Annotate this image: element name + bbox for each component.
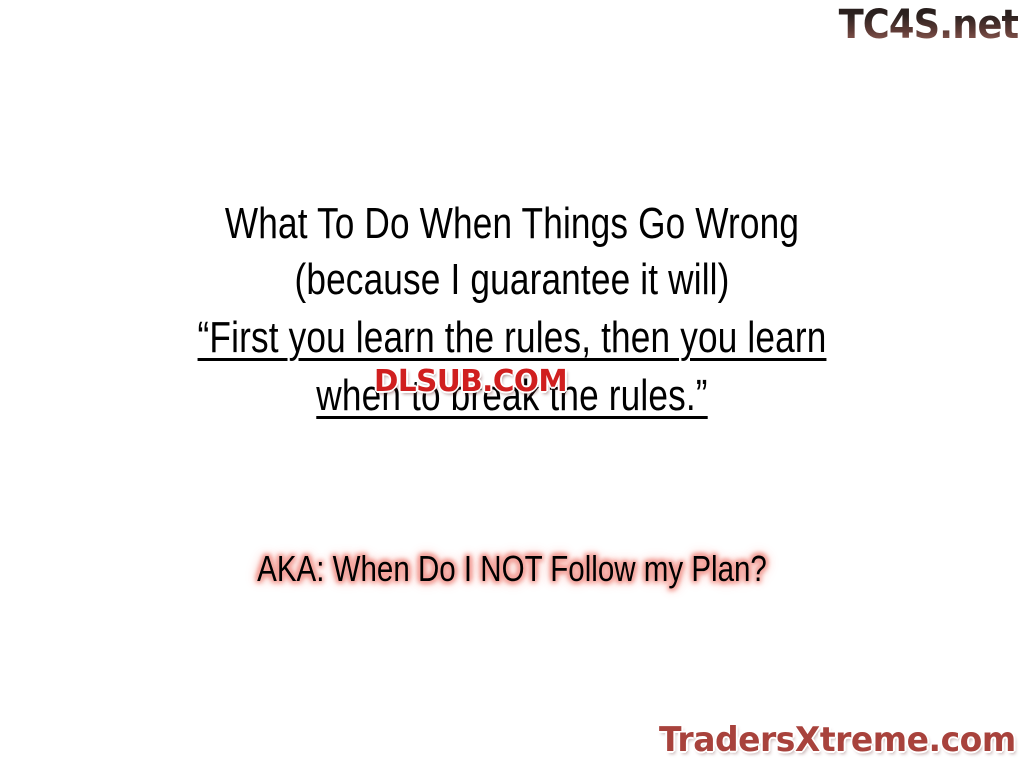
slide-title-line: What To Do When Things Go Wrong xyxy=(102,196,921,252)
dlsub-com-watermark: DLSUB.COM xyxy=(374,366,567,398)
slide-subtitle-line: (because I guarantee it will) xyxy=(102,252,921,308)
tc4s-net-logo: TC4S.net xyxy=(838,2,1018,48)
quote-line-1: “First you learn the rules, then you lea… xyxy=(102,310,921,366)
slide-canvas: TC4S.net What To Do When Things Go Wrong… xyxy=(0,0,1024,768)
tradersxtreme-com-logo: TradersXtreme.com xyxy=(659,720,1016,760)
aka-question-line: AKA: When Do I NOT Follow my Plan? xyxy=(92,546,932,592)
